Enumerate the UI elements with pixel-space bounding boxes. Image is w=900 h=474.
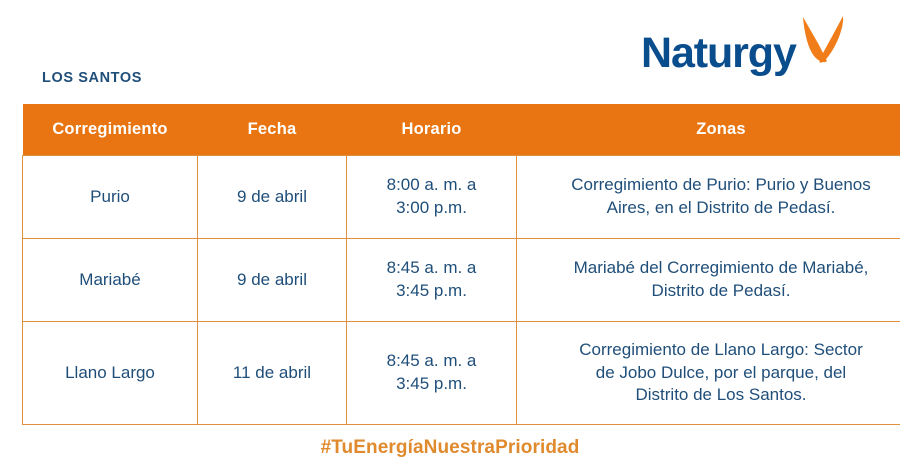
column-header-horario: Horario: [347, 104, 517, 156]
cell-fecha: 11 de abril: [198, 322, 347, 425]
column-header-zonas: Zonas: [517, 104, 900, 156]
outage-schedule-table: Corregimiento Fecha Horario Zonas Purio …: [22, 104, 900, 425]
zonas-line-2: de Jobo Dulce, por el parque, del: [525, 362, 900, 385]
zonas-line-3: Distrito de Los Santos.: [525, 384, 900, 407]
naturgy-wordmark: Naturgy: [641, 32, 796, 75]
cell-horario: 8:45 a. m. a 3:45 p.m.: [347, 239, 517, 322]
cell-fecha: 9 de abril: [198, 239, 347, 322]
table-row: Llano Largo 11 de abril 8:45 a. m. a 3:4…: [23, 322, 900, 425]
horario-line-start: 8:45 a. m. a: [355, 257, 508, 280]
cell-corregimiento: Llano Largo: [23, 322, 198, 425]
table-row: Purio 9 de abril 8:00 a. m. a 3:00 p.m. …: [23, 156, 900, 239]
schedule-poster: Naturgy LOS SANTOS Corregimiento Fecha H…: [0, 0, 900, 474]
cell-zonas: Mariabé del Corregimiento de Mariabé, Di…: [517, 239, 900, 322]
horario-line-end: 3:45 p.m.: [355, 373, 508, 396]
column-header-corregimiento: Corregimiento: [23, 104, 198, 156]
naturgy-logo: Naturgy: [641, 16, 885, 78]
horario-line-end: 3:00 p.m.: [355, 197, 508, 220]
cell-zonas: Corregimiento de Purio: Purio y Buenos A…: [517, 156, 900, 239]
cell-horario: 8:45 a. m. a 3:45 p.m.: [347, 322, 517, 425]
table-row: Mariabé 9 de abril 8:45 a. m. a 3:45 p.m…: [23, 239, 900, 322]
zonas-line-1: Mariabé del Corregimiento de Mariabé,: [525, 257, 900, 280]
zonas-line-1: Corregimiento de Llano Largo: Sector: [525, 339, 900, 362]
page-title: LOS SANTOS: [42, 70, 142, 86]
horario-line-start: 8:45 a. m. a: [355, 350, 508, 373]
cell-zonas: Corregimiento de Llano Largo: Sector de …: [517, 322, 900, 425]
cell-corregimiento: Purio: [23, 156, 198, 239]
table-header-row: Corregimiento Fecha Horario Zonas: [23, 104, 900, 156]
zonas-line-2: Aires, en el Distrito de Pedasí.: [525, 197, 900, 220]
naturgy-butterfly-mark-icon: [799, 15, 847, 71]
cell-horario: 8:00 a. m. a 3:00 p.m.: [347, 156, 517, 239]
zonas-line-1: Corregimiento de Purio: Purio y Buenos: [525, 174, 900, 197]
cell-corregimiento: Mariabé: [23, 239, 198, 322]
column-header-fecha: Fecha: [198, 104, 347, 156]
campaign-hashtag: #TuEnergíaNuestraPrioridad: [0, 437, 900, 459]
horario-line-end: 3:45 p.m.: [355, 280, 508, 303]
horario-line-start: 8:00 a. m. a: [355, 174, 508, 197]
cell-fecha: 9 de abril: [198, 156, 347, 239]
table-body: Purio 9 de abril 8:00 a. m. a 3:00 p.m. …: [23, 156, 900, 425]
zonas-line-2: Distrito de Pedasí.: [525, 280, 900, 303]
table-header: Corregimiento Fecha Horario Zonas: [23, 104, 900, 156]
